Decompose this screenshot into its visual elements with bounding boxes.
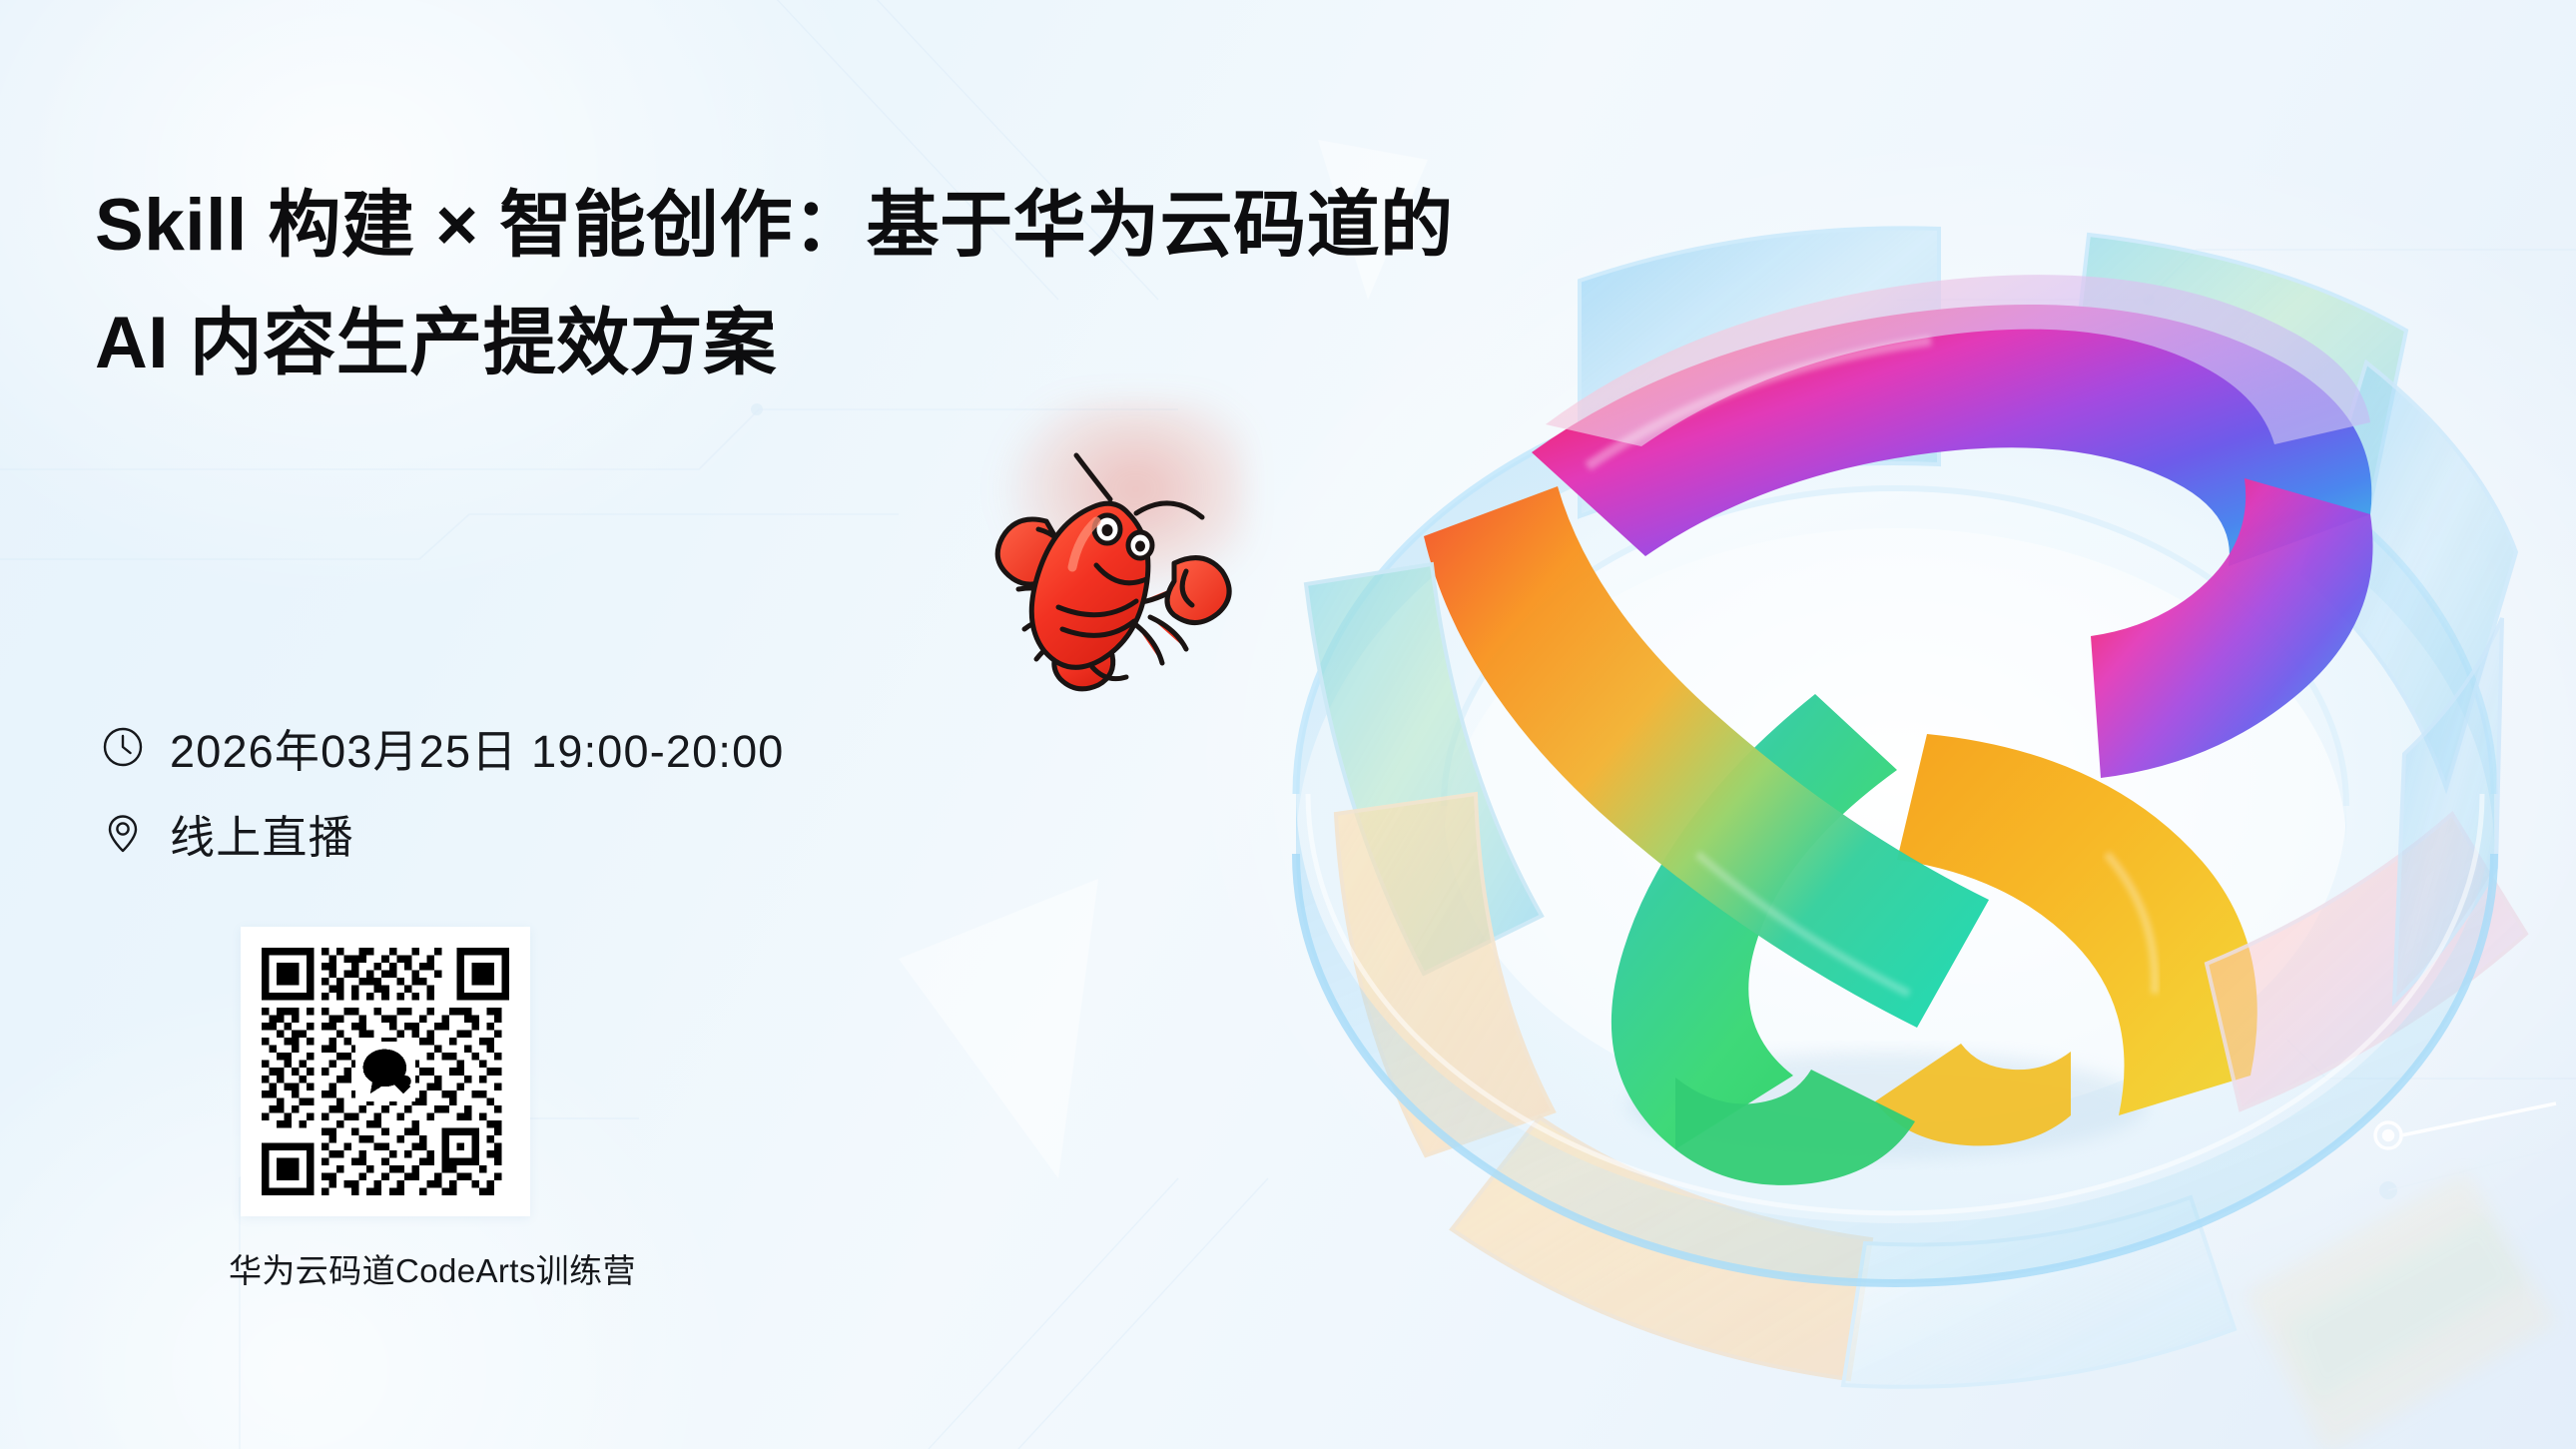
event-location-row: 线上直播 [100,790,785,876]
artwork-3d-ribbon-ring [1228,95,2576,1449]
event-datetime-row: 2026年03月25日 19:00-20:00 [100,704,785,790]
qr-caption: 华为云码道CodeArts训练营 [229,1244,518,1292]
event-title: Skill 构建 × 智能创作：基于华为云码道的 AI 内容生产提效方案 [95,168,1213,401]
qr-block: 华为云码道CodeArts训练营 [241,927,530,1292]
event-location-text: 线上直播 [170,801,354,866]
event-meta: 2026年03月25日 19:00-20:00 线上直播 [100,704,785,876]
clock-icon [100,724,146,770]
qr-code[interactable] [241,927,530,1216]
content-column: Skill 构建 × 智能创作：基于华为云码道的 AI 内容生产提效方案 202… [95,0,1243,1449]
title-line-1: Skill 构建 × 智能创作：基于华为云码道的 [95,168,1213,284]
map-pin-icon [100,810,146,856]
title-line-2: AI 内容生产提效方案 [95,286,1213,401]
qr-code-matrix [262,948,509,1195]
event-datetime-text: 2026年03月25日 19:00-20:00 [170,715,785,780]
event-banner: Skill 构建 × 智能创作：基于华为云码道的 AI 内容生产提效方案 202… [0,0,2576,1449]
